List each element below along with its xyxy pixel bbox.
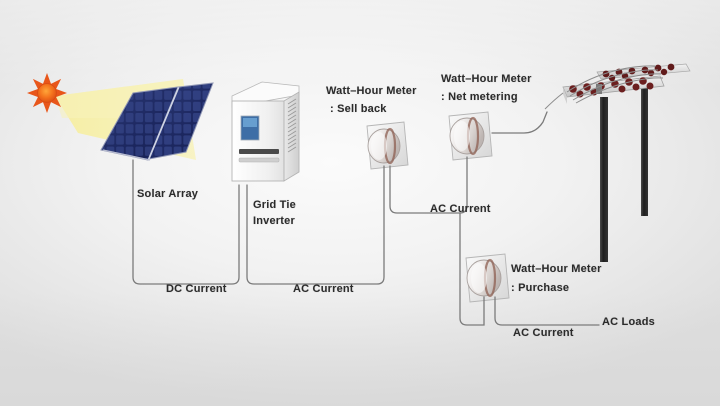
wire-dc-current [133,160,239,284]
label-dc-current: DC Current [166,282,227,297]
label-inverter-line2: Inverter [253,214,295,229]
wire-net-to-pole [492,112,547,133]
label-meter-sellback-line1: Watt–Hour Meter [326,84,417,99]
label-meter-net-line2: : Net metering [441,90,518,105]
label-meter-purchase-line1: Watt–Hour Meter [511,262,602,277]
label-inverter-line1: Grid Tie [253,198,296,213]
label-meter-purchase-line2: : Purchase [511,281,569,296]
sun-icon [27,73,67,113]
label-meter-sellback-line2: : Sell back [330,102,387,117]
watt-hour-meter-icon-sellback [367,122,408,169]
utility-pole-icon [545,64,690,262]
label-ac-loads: AC Loads [602,315,655,330]
watt-hour-meter-icon-purchase [466,254,509,302]
label-meter-net-line1: Watt–Hour Meter [441,72,532,87]
label-ac-current-inverter: AC Current [293,282,354,297]
label-ac-current-meters: AC Current [430,202,491,217]
label-solar-array: Solar Array [137,187,198,202]
label-ac-current-loads: AC Current [513,326,574,341]
inverter-icon [232,82,299,181]
wire-purchase-to-loads [495,297,599,325]
diagram-artwork [0,0,720,406]
watt-hour-meter-icon-net [449,112,492,160]
solar-grid-tie-diagram: Solar Array Grid Tie Inverter Watt–Hour … [0,0,720,406]
